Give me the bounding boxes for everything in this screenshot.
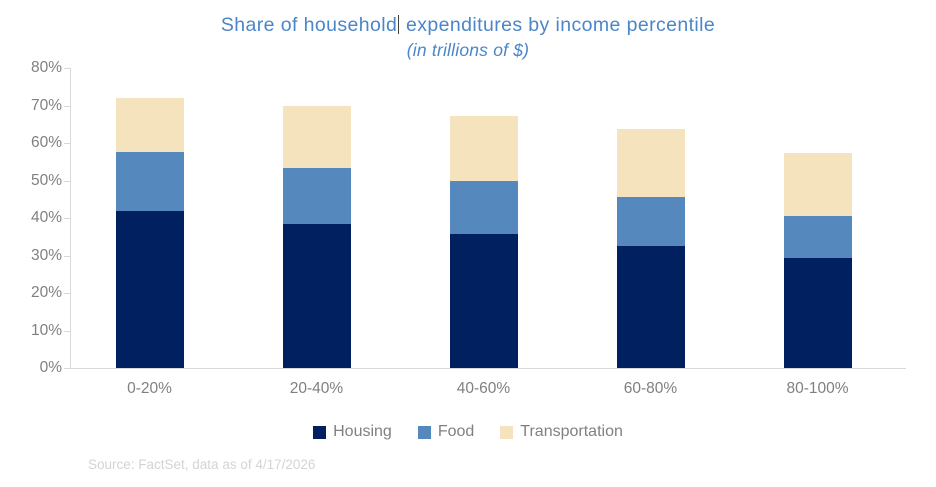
bar-segment-food[interactable] [784, 216, 852, 258]
bar-segment-housing[interactable] [617, 246, 685, 368]
bar-group[interactable] [116, 68, 184, 368]
bar-segment-transportation[interactable] [116, 98, 184, 152]
y-axis-tick-label: 0% [4, 359, 62, 377]
bar-group[interactable] [784, 68, 852, 368]
y-axis-tick-label: 60% [4, 134, 62, 152]
bar-segment-housing[interactable] [450, 234, 518, 368]
bar-segment-food[interactable] [450, 181, 518, 234]
plot-area [70, 68, 905, 368]
y-axis-tick-label: 40% [4, 209, 62, 227]
chart-legend: HousingFoodTransportation [0, 423, 936, 441]
bar-group[interactable] [450, 68, 518, 368]
legend-item-transportation[interactable]: Transportation [500, 423, 623, 441]
legend-swatch-icon [418, 426, 431, 439]
y-axis-labels: 0%10%20%30%40%50%60%70%80% [0, 0, 62, 487]
y-axis-tick-label: 70% [4, 97, 62, 115]
x-axis-tick-label: 0-20% [69, 380, 231, 398]
bar-segment-transportation[interactable] [784, 153, 852, 216]
y-axis-tick-label: 20% [4, 284, 62, 302]
x-axis-tick-label: 40-60% [403, 380, 565, 398]
bar-segment-food[interactable] [283, 168, 351, 224]
x-axis-tick-label: 60-80% [570, 380, 732, 398]
legend-label: Transportation [520, 423, 623, 441]
legend-item-food[interactable]: Food [418, 423, 474, 441]
y-axis-tick-label: 50% [4, 172, 62, 190]
y-axis-tick-label: 10% [4, 322, 62, 340]
chart-title-text-part2: expenditures by income percentile [400, 14, 715, 36]
y-axis-tick-label: 30% [4, 247, 62, 265]
source-note: Source: FactSet, data as of 4/17/2026 [88, 457, 315, 472]
bar-segment-transportation[interactable] [450, 116, 518, 181]
x-axis-tick-label: 20-40% [236, 380, 398, 398]
chart-canvas: Share of household expenditures by incom… [0, 0, 936, 487]
bar-segment-transportation[interactable] [617, 129, 685, 197]
chart-title-block: Share of household expenditures by incom… [0, 12, 936, 62]
page-title[interactable]: Share of household expenditures by incom… [0, 12, 936, 38]
bar-group[interactable] [617, 68, 685, 368]
chart-title-text-part1: Share of household [221, 14, 397, 36]
bar-segment-housing[interactable] [283, 224, 351, 368]
bar-segment-food[interactable] [116, 152, 184, 211]
legend-swatch-icon [500, 426, 513, 439]
legend-label: Food [438, 423, 474, 441]
y-axis-tick-label: 80% [4, 59, 62, 77]
chart-subtitle[interactable]: (in trillions of $) [0, 38, 936, 62]
legend-item-housing[interactable]: Housing [313, 423, 392, 441]
legend-label: Housing [333, 423, 392, 441]
bar-segment-transportation[interactable] [283, 106, 351, 169]
x-axis-line [70, 368, 906, 369]
legend-swatch-icon [313, 426, 326, 439]
x-axis-tick-label: 80-100% [737, 380, 899, 398]
bar-group[interactable] [283, 68, 351, 368]
bar-segment-housing[interactable] [116, 211, 184, 368]
bar-segment-housing[interactable] [784, 258, 852, 368]
text-cursor-caret [398, 15, 399, 34]
bar-segment-food[interactable] [617, 197, 685, 246]
